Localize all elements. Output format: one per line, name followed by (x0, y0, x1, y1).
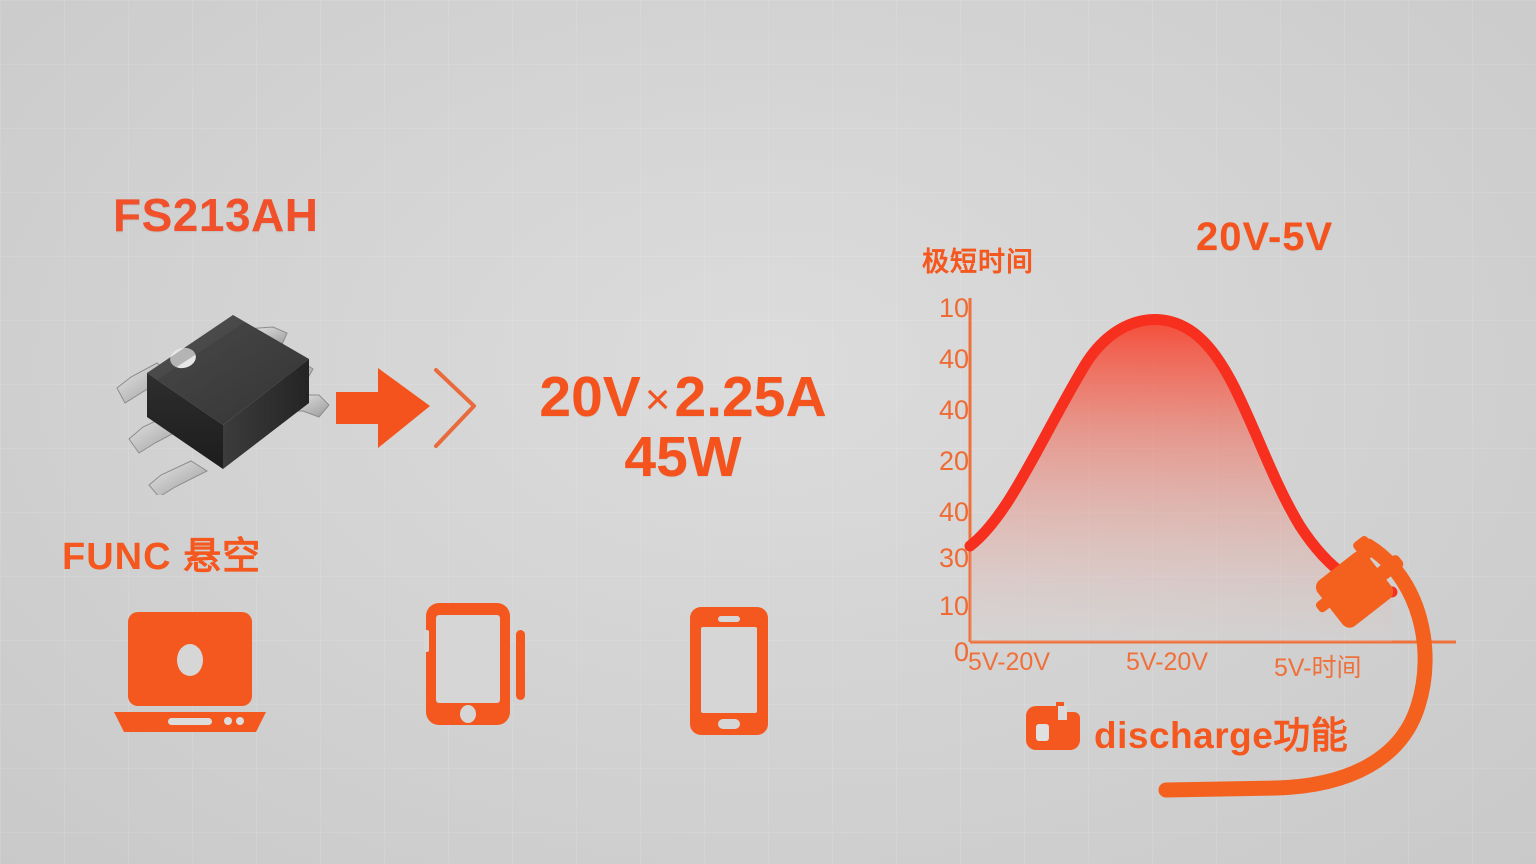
y-tick: 10 (925, 593, 969, 620)
discharge-label: discharge功能 (1094, 705, 1348, 759)
formula-multiply-symbol: × (641, 375, 675, 424)
discharge-feature: discharge功能 (1022, 702, 1348, 761)
x-tick: 5V-20V (968, 648, 1050, 677)
chart-title: 极短时间 (922, 240, 1034, 279)
phone-icon (684, 605, 776, 742)
y-tick: 40 (925, 499, 969, 526)
y-tick: 40 (925, 346, 969, 373)
chart-y-axis: 10 40 40 20 40 30 10 0 (921, 295, 969, 655)
page-title: FS213AH (113, 188, 318, 242)
y-tick: 30 (925, 545, 969, 572)
y-tick: 20 (925, 448, 969, 475)
slide-canvas: FS213AH (0, 0, 1536, 864)
formula-power: 45W (508, 427, 858, 487)
voltage-range-badge: 20V-5V (1196, 215, 1333, 260)
y-tick: 40 (925, 397, 969, 424)
power-socket-icon (1022, 702, 1080, 761)
y-tick: 10 (925, 295, 969, 322)
power-formula: 20V×2.25A 45W (508, 367, 858, 488)
formula-current: 2.25A (675, 365, 827, 429)
formula-voltage: 20V (539, 365, 640, 429)
laptop-icon (110, 608, 270, 738)
sot23-6-chip-icon (95, 285, 335, 495)
power-cable (1100, 500, 1500, 840)
func-pin-note: FUNC 悬空 (62, 525, 261, 580)
flow-arrow-icon (332, 358, 492, 458)
tablet-icon (424, 600, 534, 735)
